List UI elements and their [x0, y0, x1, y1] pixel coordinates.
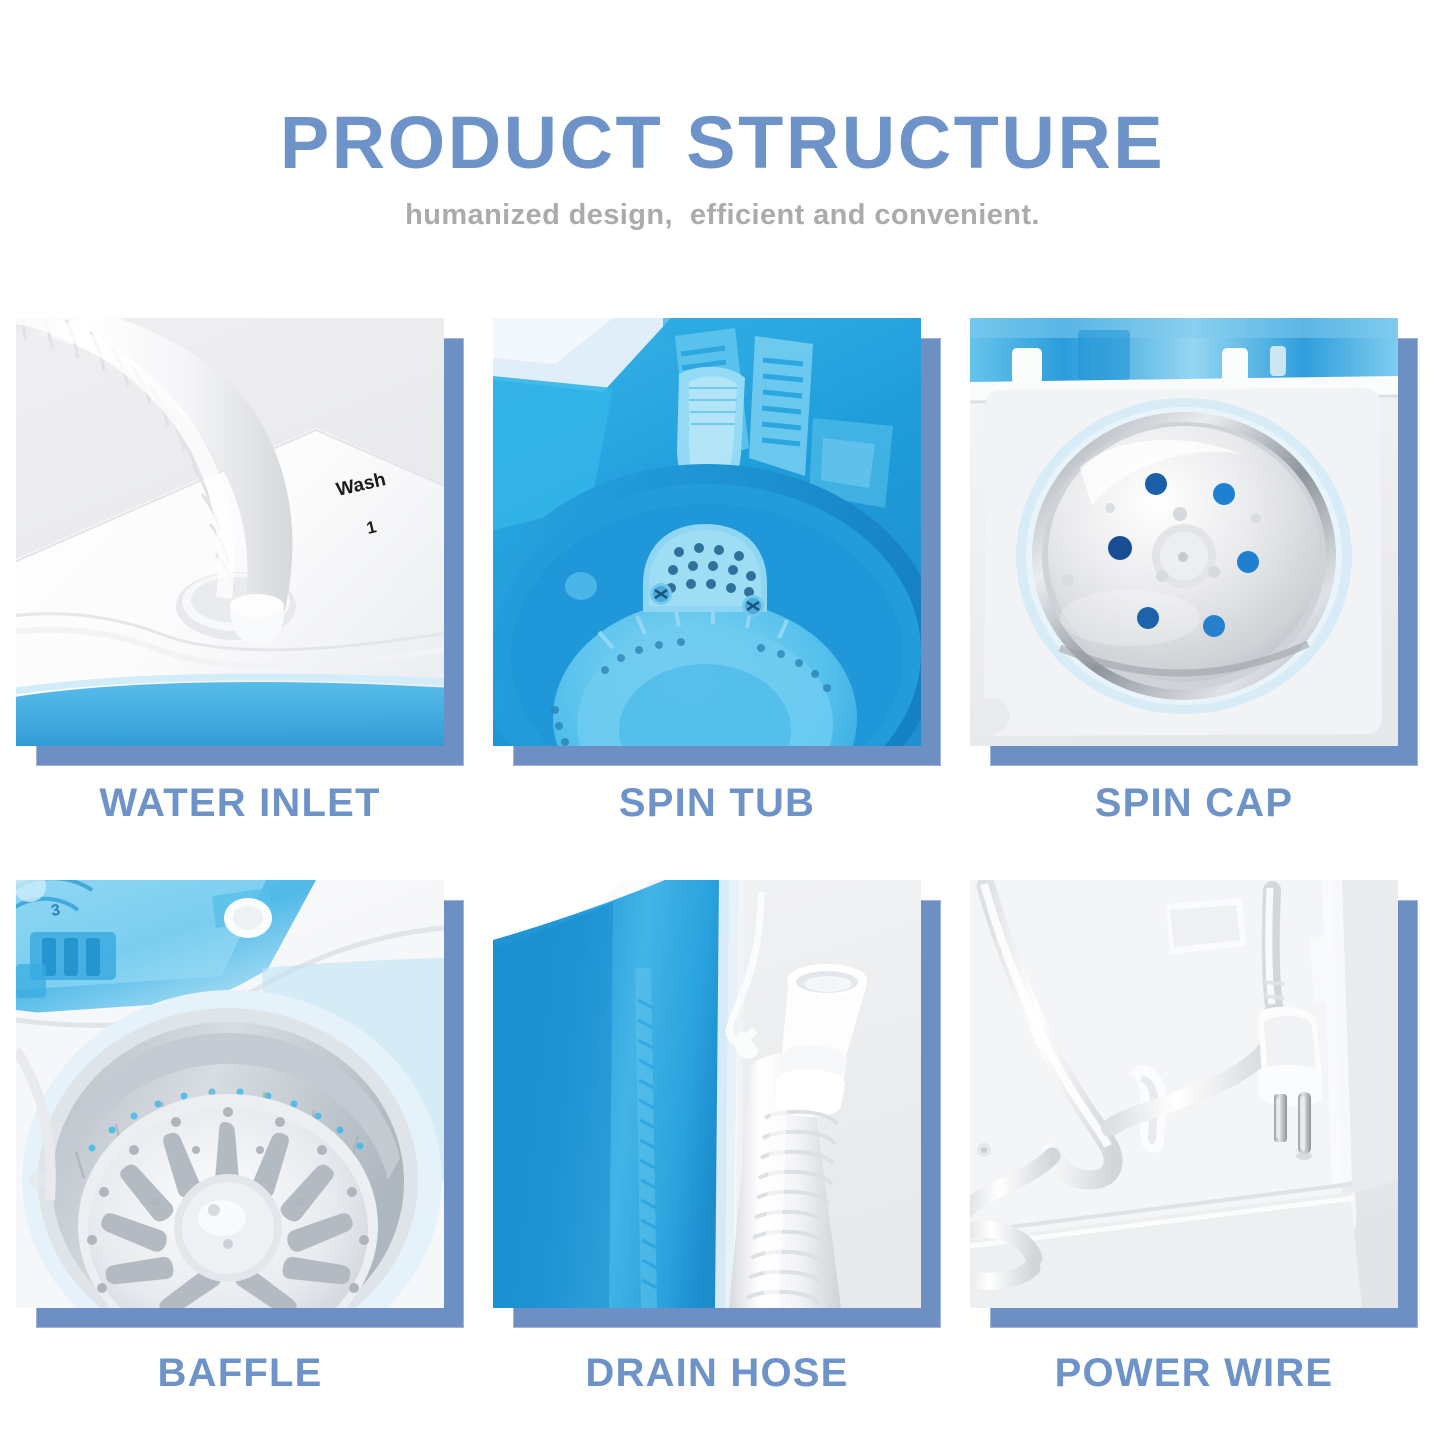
tile-baffle[interactable]: 3 [16, 880, 475, 1420]
tile-spin-cap[interactable]: SPIN CAP [970, 318, 1429, 858]
infographic-page: PRODUCT STRUCTURE humanized design, effi… [0, 0, 1445, 1445]
page-subtitle: humanized design, efficient and convenie… [0, 182, 1445, 232]
tile-caption: POWER WIRE [970, 1350, 1418, 1396]
tile-drain-hose[interactable]: DRAIN HOSE [493, 880, 952, 1420]
tile-spin-tub[interactable]: SPIN TUB [493, 318, 952, 858]
header: PRODUCT STRUCTURE humanized design, effi… [0, 0, 1445, 232]
tile-caption: SPIN TUB [493, 780, 941, 826]
tile-power-wire[interactable]: POWER WIRE [970, 880, 1429, 1420]
photo-spin-cap [970, 318, 1398, 746]
tile-caption: SPIN CAP [970, 780, 1418, 826]
tile-water-inlet[interactable]: Wash 1 WATER INLET [16, 318, 475, 858]
tile-caption: WATER INLET [16, 780, 464, 826]
photo-drain-hose [493, 880, 921, 1308]
photo-spin-tub [493, 318, 921, 746]
photo-power-wire [970, 880, 1398, 1308]
tile-caption: DRAIN HOSE [493, 1350, 941, 1396]
page-title: PRODUCT STRUCTURE [0, 0, 1445, 182]
product-structure-grid: Wash 1 WATER INLET [0, 318, 1445, 1420]
photo-baffle: 3 [16, 880, 444, 1308]
photo-water-inlet: Wash 1 [16, 318, 444, 746]
tile-caption: BAFFLE [16, 1350, 464, 1396]
